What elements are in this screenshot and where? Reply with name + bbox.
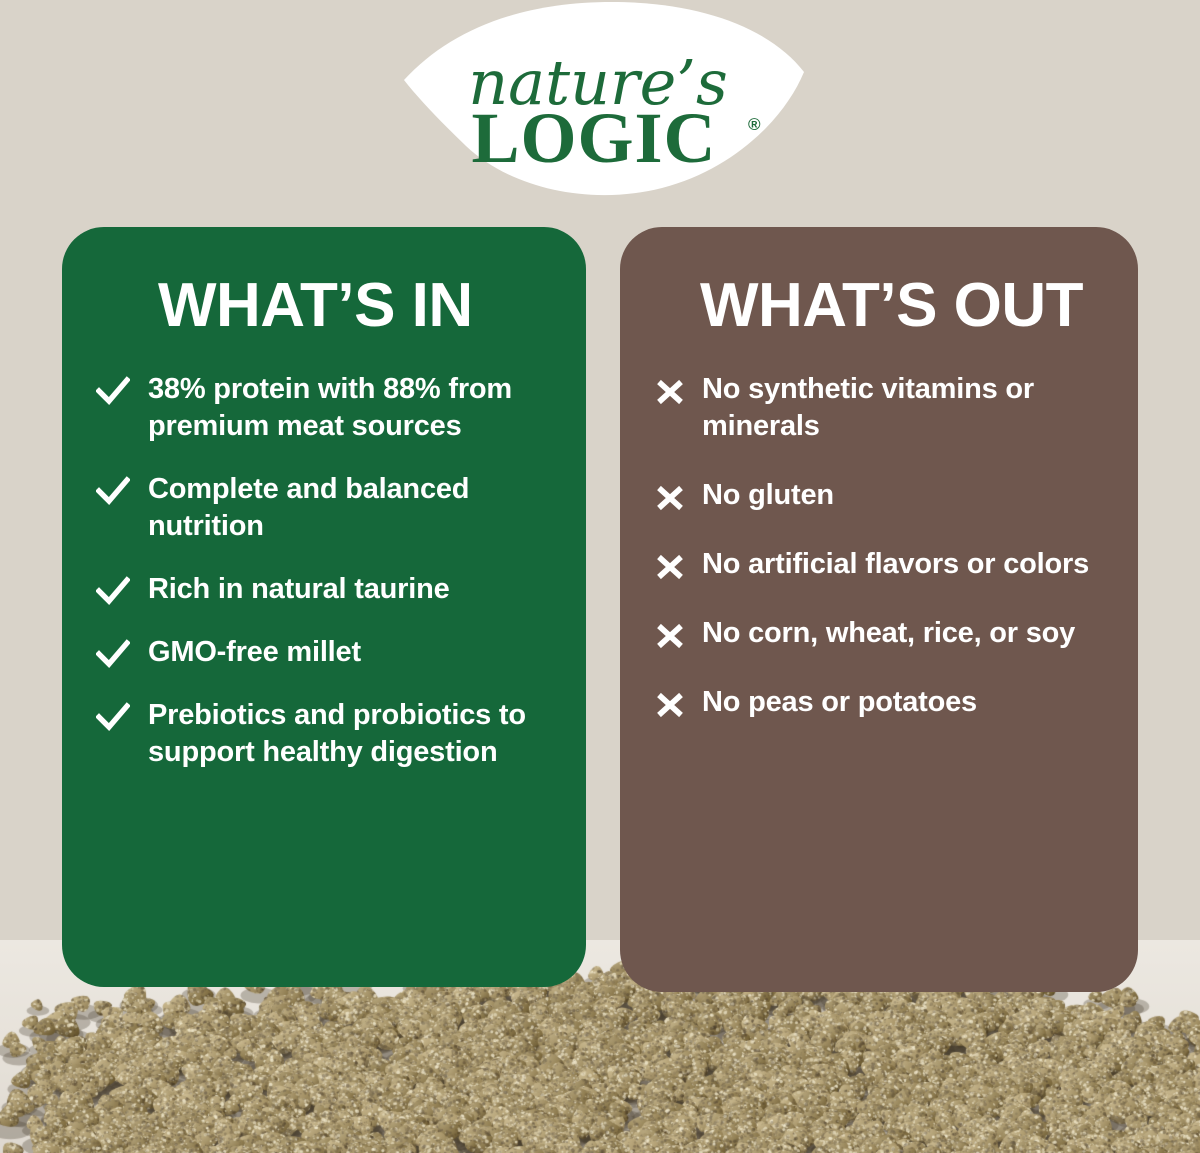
x-icon (654, 686, 686, 722)
list-item: Complete and balanced nutrition (96, 471, 552, 545)
x-icon (654, 479, 686, 515)
logo-wordmark-text: LOGIC (471, 98, 716, 178)
list-item-label: Rich in natural taurine (148, 571, 450, 608)
list-item: Rich in natural taurine (96, 571, 552, 608)
check-icon (96, 373, 130, 409)
check-icon (96, 573, 130, 609)
list-item-label: No gluten (702, 477, 834, 514)
x-icon (654, 548, 686, 584)
list-item: Prebiotics and probiotics to support hea… (96, 697, 552, 771)
list-item: GMO-free millet (96, 634, 552, 671)
check-icon (96, 636, 130, 672)
whats-out-panel: WHAT’S OUT No synthetic vitamins or mine… (620, 227, 1138, 992)
check-icon (96, 473, 130, 509)
whats-out-list: No synthetic vitamins or minerals No glu… (654, 371, 1108, 721)
x-icon (654, 373, 686, 409)
list-item-label: No artificial flavors or colors (702, 546, 1089, 583)
whats-in-panel: WHAT’S IN 38% protein with 88% from prem… (62, 227, 586, 987)
list-item: No synthetic vitamins or minerals (654, 371, 1108, 445)
list-item-label: No corn, wheat, rice, or soy (702, 615, 1075, 652)
product-infographic: nature’s LOGIC ® WHAT’S IN 38% protein w… (0, 0, 1200, 1153)
x-icon (654, 617, 686, 653)
whats-in-list: 38% protein with 88% from premium meat s… (96, 371, 552, 771)
check-icon (96, 699, 130, 735)
list-item-label: Complete and balanced nutrition (148, 471, 548, 545)
list-item: No gluten (654, 477, 1108, 514)
list-item: 38% protein with 88% from premium meat s… (96, 371, 552, 445)
list-item-label: GMO-free millet (148, 634, 361, 671)
list-item-label: 38% protein with 88% from premium meat s… (148, 371, 548, 445)
whats-in-title: WHAT’S IN (96, 275, 552, 337)
list-item: No corn, wheat, rice, or soy (654, 615, 1108, 652)
brand-logo: nature’s LOGIC ® (380, 0, 820, 199)
whats-out-title: WHAT’S OUT (654, 275, 1108, 337)
list-item: No peas or potatoes (654, 684, 1108, 721)
list-item-label: No synthetic vitamins or minerals (702, 371, 1092, 445)
list-item-label: No peas or potatoes (702, 684, 977, 721)
registered-trademark-icon: ® (748, 115, 761, 134)
list-item-label: Prebiotics and probiotics to support hea… (148, 697, 548, 771)
list-item: No artificial flavors or colors (654, 546, 1108, 583)
